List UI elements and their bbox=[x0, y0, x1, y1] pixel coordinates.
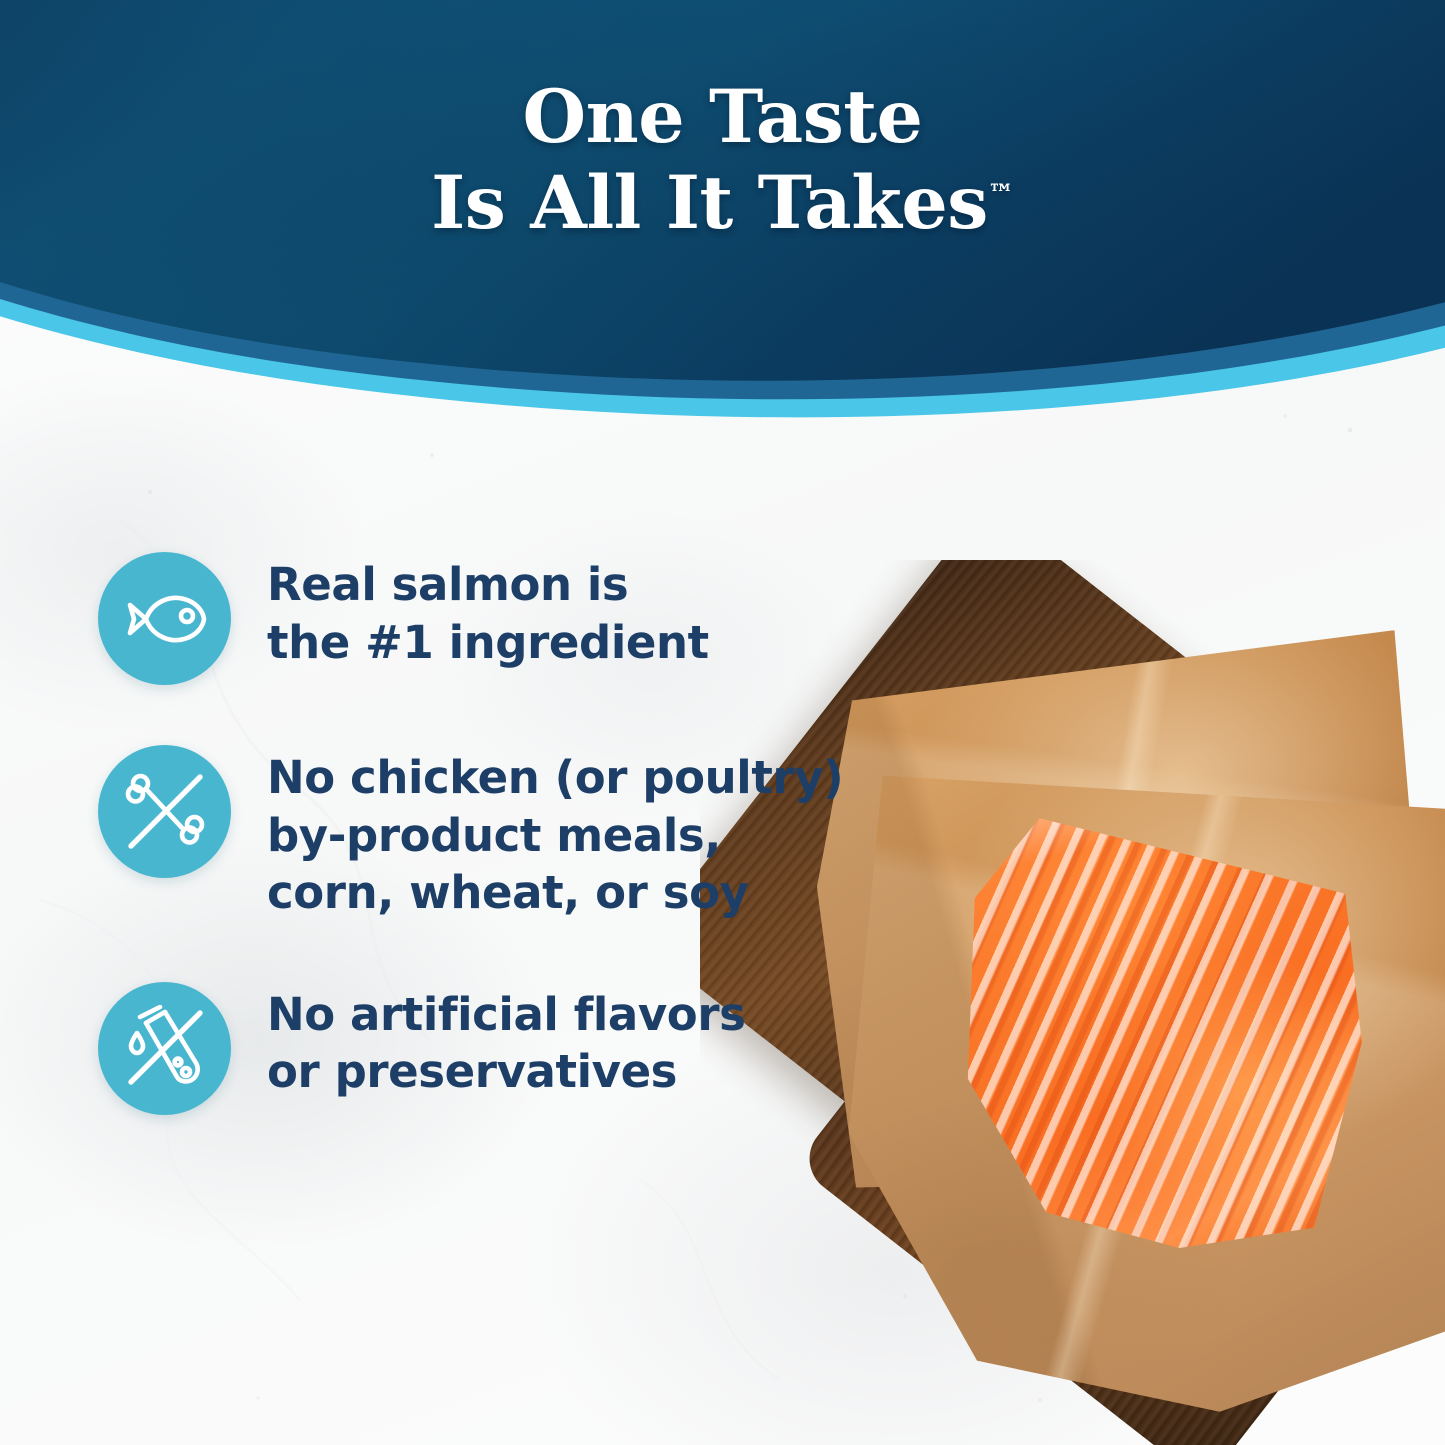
list-item: No artificial flavors or preservatives bbox=[98, 982, 858, 1115]
promo-image-stage: One TasteIs All It Takes™ bbox=[0, 0, 1445, 1445]
headline-line-1: One Taste bbox=[523, 74, 923, 160]
no-test-tube-icon bbox=[98, 982, 231, 1115]
benefits-list: Real salmon is the #1 ingredient bbox=[98, 552, 858, 1115]
no-bone-icon bbox=[98, 745, 231, 878]
trademark-symbol: ™ bbox=[988, 180, 1014, 210]
page-title: One TasteIs All It Takes™ bbox=[0, 74, 1445, 246]
list-item: Real salmon is the #1 ingredient bbox=[98, 552, 858, 685]
list-item: No chicken (or poultry) by-product meals… bbox=[98, 745, 858, 922]
headline-line-2: Is All It Takes bbox=[431, 160, 988, 246]
top-banner: One TasteIs All It Takes™ bbox=[0, 0, 1445, 440]
list-item-label: Real salmon is the #1 ingredient bbox=[267, 552, 709, 671]
list-item-label: No artificial flavors or preservatives bbox=[267, 982, 746, 1101]
list-item-label: No chicken (or poultry) by-product meals… bbox=[267, 745, 843, 922]
fish-icon bbox=[98, 552, 231, 685]
